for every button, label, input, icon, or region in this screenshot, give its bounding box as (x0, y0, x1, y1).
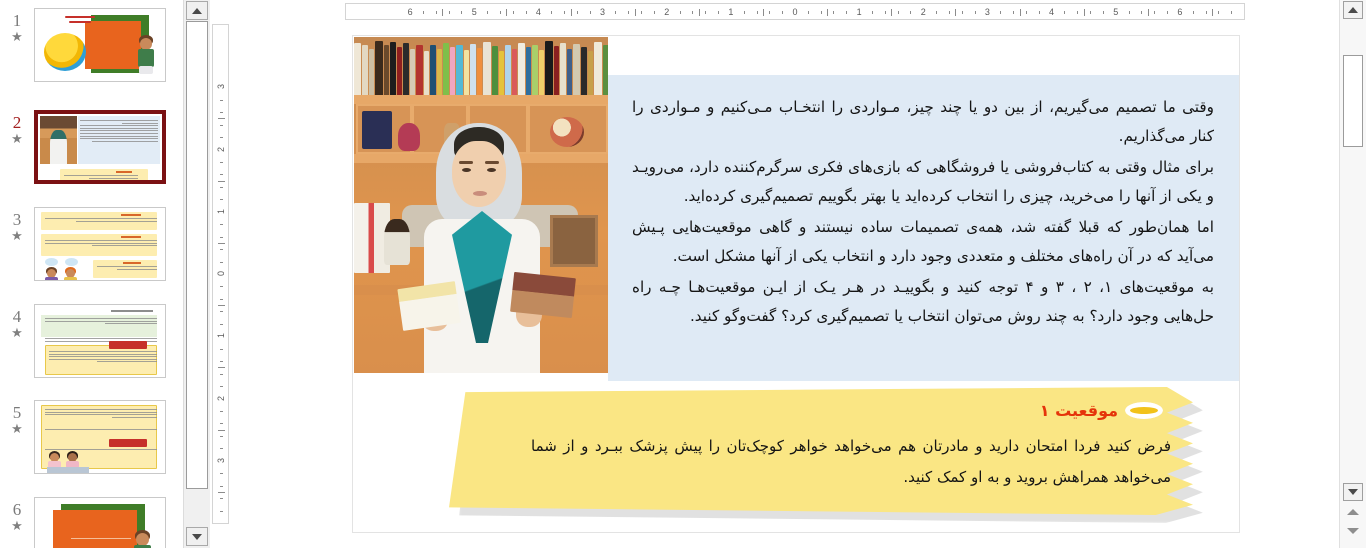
ruler-tick-label: 2 (916, 6, 930, 18)
slide-5-preview (35, 401, 165, 473)
ruler-minor-tick (220, 299, 223, 300)
ruler-minor-tick (526, 11, 527, 14)
slide-gutter-2: 2 ★ (0, 110, 34, 146)
ruler-tick-label: 6 (1173, 6, 1187, 18)
ruler-minor-tick (1077, 11, 1078, 14)
slide-thumbnail-5[interactable]: 5 ★ (0, 400, 183, 474)
face (452, 141, 506, 207)
ruler-major-tick (1212, 9, 1213, 16)
ruler-minor-tick (220, 498, 223, 499)
ruler-tick-label: 0 (217, 265, 226, 282)
ruler-tick-label: 1 (217, 203, 226, 220)
paragraph-4: به موقعیت‌های ۱، ۲ ، ۳ و ۴ توجه کنید و ب… (632, 273, 1214, 331)
slide-number-2: 2 (13, 114, 22, 131)
ruler-minor-tick (220, 324, 223, 325)
ruler-minor-tick (220, 411, 223, 412)
ruler-minor-tick (757, 11, 758, 14)
ruler-minor-tick (220, 249, 223, 250)
ruler-major-tick (635, 9, 636, 16)
ruler-minor-tick (1090, 11, 1091, 14)
slide-number-6: 6 (13, 501, 22, 518)
animation-star-icon: ★ (11, 422, 23, 436)
paragraph-2: برای مثال وقتی به کتاب‌فروشی یا فروشگاهی… (632, 153, 1214, 211)
ruler-tick-label: 5 (467, 6, 481, 18)
ruler-minor-tick (220, 473, 223, 474)
ruler-minor-tick (220, 187, 223, 188)
ruler-minor-tick (641, 11, 642, 14)
ruler-tick-label: 4 (531, 6, 545, 18)
animation-star-icon: ★ (11, 229, 23, 243)
ruler-minor-tick (220, 436, 223, 437)
ruler-minor-tick (220, 511, 223, 512)
slide-number-4: 4 (13, 308, 22, 325)
main-pane-scrollbar[interactable] (1339, 0, 1366, 548)
library-photo[interactable] (354, 37, 608, 373)
ruler-minor-tick (220, 486, 223, 487)
ruler-minor-tick (220, 100, 223, 101)
mouth (473, 191, 487, 196)
gold-oval-icon (1125, 402, 1163, 419)
cubby-book-stack (362, 111, 392, 149)
ruler-tick-label: 2 (660, 6, 674, 18)
ruler-major-tick (955, 9, 956, 16)
ruler-major-tick (506, 9, 507, 16)
ruler-tick-label: 3 (596, 6, 610, 18)
slide-thumbnail-frame-2[interactable] (34, 110, 166, 184)
ruler-minor-tick (705, 11, 706, 14)
ruler-minor-tick (808, 11, 809, 14)
slide-number-5: 5 (13, 404, 22, 421)
previous-slide-button[interactable] (1346, 504, 1360, 519)
shelf-board-1 (354, 95, 608, 104)
ruler-minor-tick (436, 11, 437, 14)
double-triangle-down-icon (1347, 528, 1359, 534)
ruler-minor-tick (220, 311, 223, 312)
ruler-minor-tick (577, 11, 578, 14)
slide-gutter-3: 3 ★ (0, 207, 34, 243)
ruler-minor-tick (513, 11, 514, 14)
thumbnail-scroll-down-button[interactable] (186, 527, 208, 546)
ruler-minor-tick (1193, 11, 1194, 14)
eyebrow-left (459, 161, 473, 164)
ruler-minor-tick (220, 237, 223, 238)
ruler-minor-tick (1206, 11, 1207, 14)
ruler-minor-tick (885, 11, 886, 14)
ruler-tick-label: 3 (980, 6, 994, 18)
vertical-ruler[interactable]: 3210123 (212, 24, 229, 524)
ruler-minor-tick (551, 11, 552, 14)
banner-title: موقعیت ۱ (1040, 401, 1118, 420)
ruler-tick-label: 1 (217, 327, 226, 344)
ruler-minor-tick (1141, 11, 1142, 14)
ruler-minor-tick (220, 349, 223, 350)
ruler-minor-tick (487, 11, 488, 14)
ruler-tick-label: 1 (724, 6, 738, 18)
ruler-minor-tick (590, 11, 591, 14)
slide-thumbnail-2[interactable]: 2 ★ (0, 110, 183, 184)
thumbnail-pane-scrollbar[interactable] (183, 0, 210, 548)
ruler-major-tick (218, 367, 225, 368)
ruler-minor-tick (500, 11, 501, 14)
ruler-minor-tick (782, 11, 783, 14)
ruler-minor-tick (1103, 11, 1104, 14)
scroll-up-button[interactable] (1343, 1, 1363, 19)
triangle-down-icon (192, 534, 202, 540)
ruler-major-tick (699, 9, 700, 16)
ruler-minor-tick (1154, 11, 1155, 14)
ruler-minor-tick (962, 11, 963, 14)
slide-3-preview (35, 208, 165, 280)
eye-right (487, 168, 496, 172)
ruler-major-tick (1020, 9, 1021, 16)
ruler-tick-label: 5 (1109, 6, 1123, 18)
slide-4-preview (35, 305, 165, 377)
slide-number-3: 3 (13, 211, 22, 228)
ruler-minor-tick (1129, 11, 1130, 14)
ruler-minor-tick (910, 11, 911, 14)
ruler-major-tick (218, 492, 225, 493)
ruler-minor-tick (220, 448, 223, 449)
ruler-minor-tick (1013, 11, 1014, 14)
ruler-minor-tick (220, 423, 223, 424)
ruler-minor-tick (220, 174, 223, 175)
ruler-minor-tick (220, 374, 223, 375)
ruler-tick-label: 3 (217, 452, 226, 469)
ruler-minor-tick (220, 224, 223, 225)
slide-thumbnail-3[interactable]: 3 ★ (0, 207, 183, 281)
girl-figure (416, 123, 552, 373)
slide-thumbnail-6[interactable]: 6 ★ (0, 497, 183, 548)
ruler-minor-tick (564, 11, 565, 14)
slide-thumbnail-1[interactable]: 1 ★ (0, 8, 183, 82)
slide-6-preview (35, 498, 165, 548)
slide-canvas-area[interactable]: وقتی ما تصمیم می‌گیریم، از بین دو یا چند… (229, 22, 1340, 548)
slide-thumbnail-frame-5[interactable] (34, 400, 166, 474)
slide-thumbnail-pane[interactable]: 1 ★ (0, 0, 183, 548)
ruler-minor-tick (615, 11, 616, 14)
powerpoint-normal-view: 1 ★ (0, 0, 1366, 548)
photo-frame-on-shelf (550, 215, 598, 267)
animation-star-icon: ★ (11, 30, 23, 44)
ruler-minor-tick (461, 11, 462, 14)
double-triangle-up-icon (1347, 509, 1359, 515)
triangle-down-icon (1348, 489, 1358, 495)
ruler-major-tick (827, 9, 828, 16)
slide-gutter-4: 4 ★ (0, 304, 34, 340)
slide-thumbnail-frame-3[interactable] (34, 207, 166, 281)
ruler-minor-tick (220, 125, 223, 126)
ruler-minor-tick (846, 11, 847, 14)
paragraph-3: اما همان‌طور که قبلا گفته شد، همه‌ی تصمی… (632, 213, 1214, 271)
ruler-minor-tick (1039, 11, 1040, 14)
ruler-major-tick (1084, 9, 1085, 16)
ruler-minor-tick (220, 162, 223, 163)
ruler-minor-tick (1026, 11, 1027, 14)
ruler-major-tick (218, 243, 225, 244)
cubby-ornament (550, 117, 584, 147)
ruler-minor-tick (423, 11, 424, 14)
ruler-minor-tick (680, 11, 681, 14)
ruler-minor-tick (872, 11, 873, 14)
animation-star-icon: ★ (11, 519, 23, 533)
ruler-tick-label: 6 (403, 6, 417, 18)
ruler-tick-label: 2 (217, 390, 226, 407)
small-doll (384, 219, 410, 265)
ruler-minor-tick (449, 11, 450, 14)
ruler-tick-label: 4 (1045, 6, 1059, 18)
ruler-minor-tick (220, 262, 223, 263)
ruler-tick-label: 2 (217, 141, 226, 158)
current-slide[interactable]: وقتی ما تصمیم می‌گیریم، از بین دو یا چند… (352, 35, 1240, 533)
slide-thumbnail-frame-1[interactable] (34, 8, 166, 82)
ruler-major-tick (891, 9, 892, 16)
triangle-up-icon (1348, 7, 1358, 13)
ruler-minor-tick (949, 11, 950, 14)
slide-thumbnail-frame-4[interactable] (34, 304, 166, 378)
open-book (397, 281, 460, 331)
scroll-down-button[interactable] (1343, 483, 1363, 501)
ruler-minor-tick (1167, 11, 1168, 14)
ruler-minor-tick (220, 286, 223, 287)
blue-text-panel[interactable]: وقتی ما تصمیم می‌گیریم، از بین دو یا چند… (608, 75, 1240, 381)
slide-gutter-6: 6 ★ (0, 497, 34, 533)
horizontal-ruler[interactable]: 6543210123456 (345, 3, 1245, 20)
ruler-major-tick (571, 9, 572, 16)
ruler-major-tick (442, 9, 443, 16)
slide-thumbnail-frame-6[interactable] (34, 497, 166, 548)
ruler-minor-tick (220, 137, 223, 138)
ruler-minor-tick (833, 11, 834, 14)
situation-banner[interactable]: موقعیت ۱ فرض کنید فردا امتحان دارید و ما… (449, 387, 1209, 527)
ruler-minor-tick (220, 112, 223, 113)
ruler-minor-tick (1218, 11, 1219, 14)
ruler-minor-tick (220, 199, 223, 200)
ruler-minor-tick (654, 11, 655, 14)
thumbnail-scroll-up-button[interactable] (186, 1, 208, 20)
bookshelf-top-row (354, 37, 608, 95)
ruler-major-tick (218, 430, 225, 431)
ruler-minor-tick (744, 11, 745, 14)
ruler-minor-tick (220, 386, 223, 387)
ruler-major-tick (1148, 9, 1149, 16)
ruler-minor-tick (936, 11, 937, 14)
slide-1-preview (35, 9, 165, 81)
ruler-tick-label: 3 (217, 78, 226, 95)
ruler-minor-tick (692, 11, 693, 14)
banner-title-row: موقعیت ۱ (1040, 401, 1163, 420)
ruler-minor-tick (1231, 11, 1232, 14)
ruler-major-tick (218, 118, 225, 119)
ruler-minor-tick (1064, 11, 1065, 14)
ruler-minor-tick (718, 11, 719, 14)
main-scrollbar-thumb[interactable] (1343, 55, 1363, 147)
closed-book (510, 272, 576, 318)
slide-number-1: 1 (13, 12, 22, 29)
ruler-tick-label: 0 (788, 6, 802, 18)
paragraph-1: وقتی ما تصمیم می‌گیریم، از بین دو یا چند… (632, 93, 1214, 151)
eyebrow-right (485, 161, 499, 164)
ruler-major-tick (218, 305, 225, 306)
ruler-minor-tick (1000, 11, 1001, 14)
ruler-minor-tick (821, 11, 822, 14)
ruler-minor-tick (220, 361, 223, 362)
slide-2-preview (38, 114, 162, 180)
triangle-up-icon (192, 8, 202, 14)
slide-gutter-5: 5 ★ (0, 400, 34, 436)
next-slide-button[interactable] (1346, 523, 1360, 538)
slide-gutter-1: 1 ★ (0, 8, 34, 44)
ruler-minor-tick (628, 11, 629, 14)
animation-star-icon: ★ (11, 132, 23, 146)
slide-thumbnail-4[interactable]: 4 ★ (0, 304, 183, 378)
ruler-minor-tick (898, 11, 899, 14)
ruler-minor-tick (769, 11, 770, 14)
eye-left (462, 168, 471, 172)
ruler-tick-label: 1 (852, 6, 866, 18)
ruler-major-tick (218, 181, 225, 182)
banner-body-text: فرض کنید فردا امتحان دارید و مادرتان هم … (531, 431, 1171, 493)
animation-star-icon: ★ (11, 326, 23, 340)
ruler-minor-tick (975, 11, 976, 14)
thumbnail-scrollbar-thumb[interactable] (186, 21, 208, 489)
ruler-major-tick (763, 9, 764, 16)
